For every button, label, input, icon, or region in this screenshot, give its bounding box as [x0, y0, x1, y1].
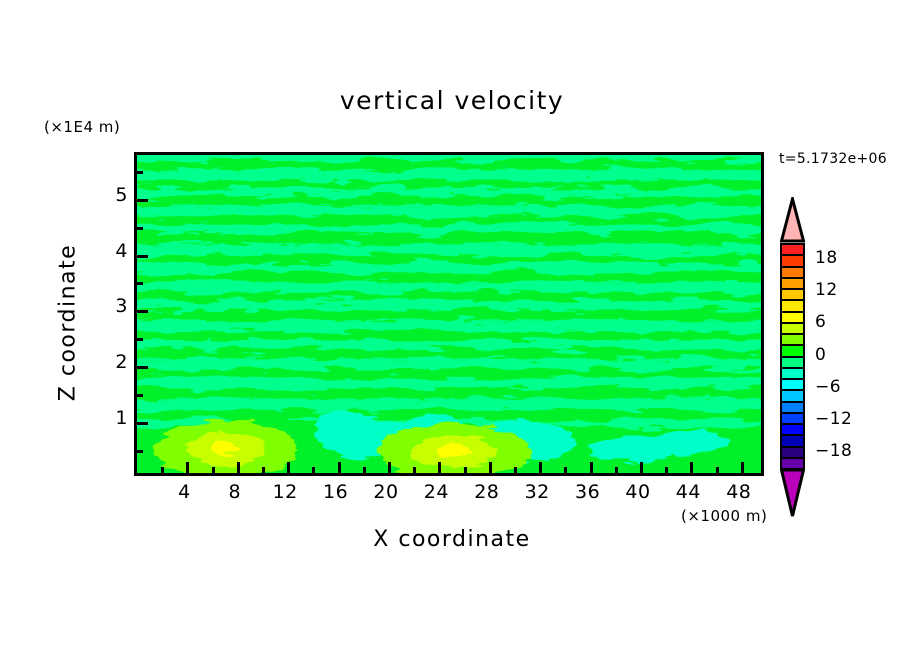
- y-axis-major-tick: [137, 199, 148, 202]
- y-axis-major-tick: [137, 366, 148, 369]
- contour-plot-area: [134, 152, 764, 476]
- colorbar-separator: [780, 389, 805, 391]
- colorbar-separator: [780, 423, 805, 425]
- colorbar-separator: [780, 457, 805, 459]
- x-axis-major-tick: [690, 462, 693, 473]
- y-axis-minor-tick: [137, 394, 143, 397]
- y-axis-tick-label: 3: [88, 295, 128, 317]
- x-axis-major-tick: [489, 462, 492, 473]
- colorbar-separator: [780, 367, 805, 369]
- x-axis-major-tick: [640, 462, 643, 473]
- colorbar-separator: [780, 322, 805, 324]
- x-axis-minor-tick: [212, 467, 215, 473]
- colorbar-separator: [780, 356, 805, 358]
- x-axis-major-tick: [539, 462, 542, 473]
- x-axis-minor-tick: [413, 467, 416, 473]
- colorbar-separator: [780, 401, 805, 403]
- colorbar-tick-label: 6: [815, 312, 826, 332]
- colorbar-tick-label: 12: [815, 280, 838, 300]
- y-axis-tick-label: 5: [88, 184, 128, 206]
- y-axis-minor-tick: [137, 282, 143, 285]
- x-axis-minor-tick: [514, 467, 517, 473]
- x-axis-minor-tick: [615, 467, 618, 473]
- colorbar-separator: [780, 243, 805, 245]
- y-axis-minor-tick: [137, 227, 143, 230]
- colorbar-separator: [780, 266, 805, 268]
- colorbar-tick-label: −6: [815, 377, 841, 397]
- x-axis-minor-tick: [464, 467, 467, 473]
- x-axis-major-tick: [590, 462, 593, 473]
- colorbar-separator: [780, 434, 805, 436]
- colorbar-tick-label: −18: [815, 441, 852, 461]
- x-axis-title: X coordinate: [0, 527, 904, 552]
- x-axis-minor-tick: [262, 467, 265, 473]
- y-axis-minor-tick: [137, 450, 143, 453]
- colorbar-over-cap: [780, 197, 805, 243]
- colorbar-separator: [780, 299, 805, 301]
- x-axis-minor-tick: [716, 467, 719, 473]
- y-axis-title: Z coordinate: [56, 193, 81, 453]
- colorbar-separator: [780, 254, 805, 256]
- x-axis-unit-label: (×1000 m): [681, 507, 767, 525]
- colorbar[interactable]: [780, 243, 805, 468]
- x-axis-major-tick: [438, 462, 441, 473]
- vertical-velocity-field: [137, 155, 761, 473]
- x-axis-major-tick: [741, 462, 744, 473]
- colorbar-separator: [780, 446, 805, 448]
- x-axis-major-tick: [388, 462, 391, 473]
- chart-title: vertical velocity: [0, 86, 904, 115]
- x-axis-minor-tick: [665, 467, 668, 473]
- colorbar-tick-label: −12: [815, 409, 852, 429]
- x-axis-major-tick: [186, 462, 189, 473]
- y-axis-tick-label: 1: [88, 407, 128, 429]
- colorbar-under-cap: [780, 468, 805, 518]
- y-axis-minor-tick: [137, 338, 143, 341]
- time-annotation: t=5.1732e+06: [779, 151, 887, 167]
- colorbar-separator: [780, 311, 805, 313]
- x-axis-major-tick: [338, 462, 341, 473]
- x-axis-minor-tick: [564, 467, 567, 473]
- colorbar-tick-label: 18: [815, 248, 838, 268]
- colorbar-separator: [780, 277, 805, 279]
- y-axis-major-tick: [137, 255, 148, 258]
- colorbar-tick-label: 0: [815, 345, 826, 365]
- x-axis-minor-tick: [312, 467, 315, 473]
- y-axis-minor-tick: [137, 171, 143, 174]
- y-axis-unit-label: (×1E4 m): [44, 118, 120, 136]
- x-axis-minor-tick: [363, 467, 366, 473]
- colorbar-separator: [780, 333, 805, 335]
- y-axis-tick-label: 2: [88, 351, 128, 373]
- y-axis-major-tick: [137, 310, 148, 313]
- colorbar-separator: [780, 378, 805, 380]
- colorbar-separator: [780, 288, 805, 290]
- x-axis-major-tick: [237, 462, 240, 473]
- colorbar-separator: [780, 412, 805, 414]
- y-axis-major-tick: [137, 422, 148, 425]
- x-axis-tick-label: 48: [709, 481, 769, 503]
- x-axis-minor-tick: [161, 467, 164, 473]
- x-axis-major-tick: [287, 462, 290, 473]
- colorbar-separator: [780, 344, 805, 346]
- y-axis-tick-label: 4: [88, 240, 128, 262]
